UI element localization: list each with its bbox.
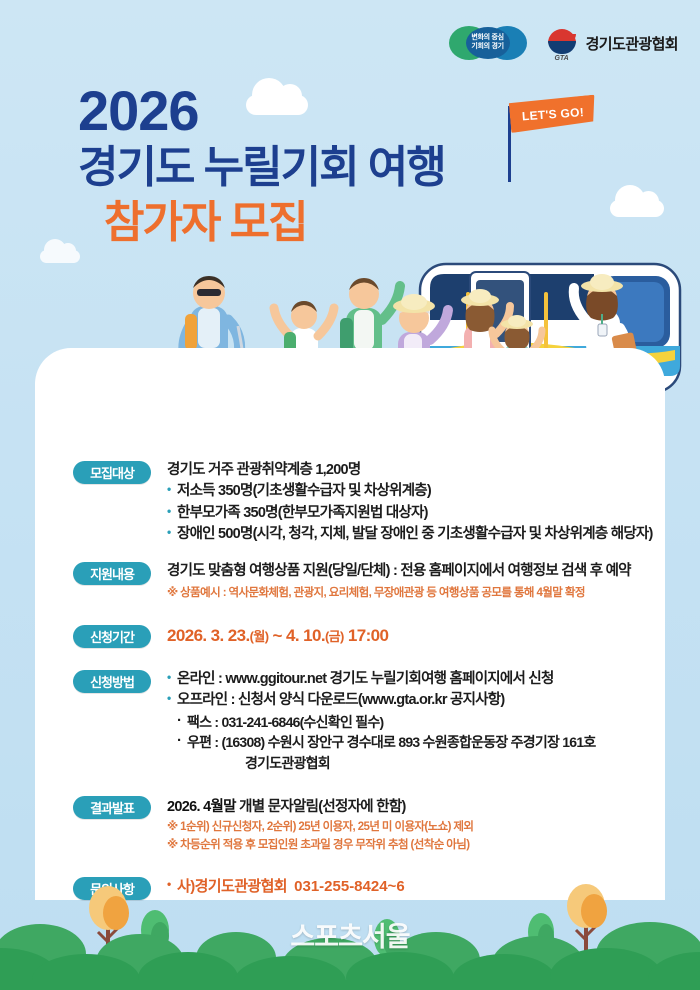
section-application-method: 신청방법 온라인 : www.ggitour.net 경기도 누릴기회여행 홈페… [39, 669, 657, 774]
header-logos: 변화의 중심 기회의 경기 GTA 경기도관광협회 [449, 26, 678, 60]
gyeonggi-brand-logo: 변화의 중심 기회의 경기 [449, 26, 527, 60]
application-method-body: 온라인 : www.ggitour.net 경기도 누릴기회여행 홈페이지에서 … [151, 669, 657, 774]
application-method-online[interactable]: 온라인 : www.ggitour.net 경기도 누릴기회여행 홈페이지에서 … [167, 669, 657, 690]
period-end-day: (금) [325, 629, 344, 644]
poster-title-block: 2026 경기도 누릴기회 여행 참가자 모집 [78, 82, 445, 250]
flag-label: LET'S GO! [521, 105, 584, 123]
spacer [39, 783, 657, 795]
flag-cloth: LET'S GO! [509, 95, 597, 133]
content-rows: 모집대상 경기도 거주 관광취약계층 1,200명 저소득 350명(기초생활수… [35, 460, 665, 909]
result-date: 2026. 4월말 [167, 799, 236, 815]
period-end-date: 4. 10. [286, 626, 325, 645]
gta-mark-label: GTA [545, 55, 579, 62]
section-result-announcement: 결과발표 2026. 4월말 개별 문자알림(선정자에 한함) ※ 1순위) 신… [39, 795, 657, 855]
support-content-note: ※ 상품예시 : 역사문화체험, 관광지, 요리체험, 무장애관광 등 여행상품… [167, 584, 657, 602]
period-start-day: (월) [250, 629, 269, 644]
application-period-body: 2026. 3. 23.(월) ~ 4. 10.(금) 17:00 [151, 624, 657, 648]
recruitment-target-lead: 경기도 거주 관광취약계층 1,200명 [167, 460, 657, 481]
spacer [39, 864, 657, 876]
badge-recruitment-target: 모집대상 [73, 461, 151, 484]
badge-support-content: 지원내용 [73, 562, 151, 585]
recruitment-target-body: 경기도 거주 관광취약계층 1,200명 저소득 350명(기초생활수급자 및 … [151, 460, 657, 546]
result-rest: 개별 문자알림(선정자에 한함) [236, 799, 406, 815]
gyeonggi-brand-text: 변화의 중심 기회의 경기 [471, 34, 503, 52]
spacer [39, 657, 657, 669]
cloud-icon [610, 200, 664, 217]
recruitment-bullet: 한부모가족 350명(한부모가족지원법 대상자) [167, 503, 657, 524]
application-method-mail: 우편 : (16308) 수원시 장안구 경수대로 893 수원종합운동장 주경… [167, 732, 657, 753]
title-main: 경기도 누릴기회 여행 [78, 141, 445, 195]
watermark-logo: 스포츠서울 [0, 915, 700, 954]
section-recruitment-target: 모집대상 경기도 거주 관광취약계층 1,200명 저소득 350명(기초생활수… [39, 460, 657, 546]
taegeuk-blue-half [548, 41, 576, 54]
period-tilde: ~ [268, 626, 286, 645]
gta-logo: GTA 경기도관광협회 [545, 26, 678, 60]
spacer [39, 612, 657, 624]
recruitment-bullet: 저소득 350명(기초생활수급자 및 차상위계층) [167, 481, 657, 502]
result-note: ※ 1순위) 신규신청자, 2순위) 25년 이용자, 25년 미 이용자(노쇼… [167, 818, 657, 836]
result-announcement-value: 2026. 4월말 개별 문자알림(선정자에 한함) [167, 795, 657, 816]
application-method-fax: 팩스 : 031-241-6846(수신확인 필수) [167, 712, 657, 733]
section-support-content: 지원내용 경기도 맞춤형 여행상품 지원(당일/단체) : 전용 홈페이지에서 … [39, 561, 657, 603]
badge-application-method: 신청방법 [73, 670, 151, 693]
result-announcement-body: 2026. 4월말 개별 문자알림(선정자에 한함) ※ 1순위) 신규신청자,… [151, 795, 657, 855]
application-period-value: 2026. 3. 23.(월) ~ 4. 10.(금) 17:00 [167, 624, 657, 648]
period-time: 17:00 [344, 626, 389, 645]
title-year: 2026 [78, 82, 445, 139]
application-method-offline[interactable]: 오프라인 : 신청서 양식 다운로드(www.gta.or.kr 공지사항) [167, 690, 657, 711]
period-start-date: 2026. 3. 23. [167, 626, 250, 645]
gta-taegeuk-icon: GTA [545, 26, 579, 60]
result-note: ※ 차등순위 적용 후 모집인원 초과일 경우 무작위 추첨 (선착순 아님) [167, 836, 657, 854]
badge-application-period: 신청기간 [73, 625, 151, 648]
support-content-lead: 경기도 맞춤형 여행상품 지원(당일/단체) : 전용 홈페이지에서 여행정보 … [167, 561, 657, 582]
gta-organization-name: 경기도관광협회 [586, 33, 678, 54]
recruitment-bullet: 장애인 500명(시각, 청각, 지체, 발달 장애인 중 기초생활수급자 및 … [167, 524, 657, 545]
poster-root: 변화의 중심 기회의 경기 GTA 경기도관광협회 2026 경기도 누릴기회 … [0, 0, 700, 990]
support-content-body: 경기도 맞춤형 여행상품 지원(당일/단체) : 전용 홈페이지에서 여행정보 … [151, 561, 657, 603]
section-application-period: 신청기간 2026. 3. 23.(월) ~ 4. 10.(금) 17:00 [39, 624, 657, 648]
application-method-mail-org: 경기도관광협회 [167, 753, 657, 774]
badge-result-announcement: 결과발표 [73, 796, 151, 819]
content-card: 모집대상 경기도 거주 관광취약계층 1,200명 저소득 350명(기초생활수… [35, 348, 665, 900]
